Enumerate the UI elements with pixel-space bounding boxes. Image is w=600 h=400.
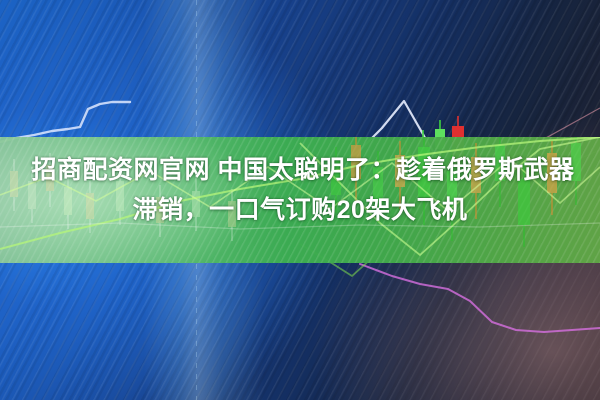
headline-text: 招商配资网官网 中国太聪明了：趁着俄罗斯武器 滞销，一口气订购20架大飞机 bbox=[0, 150, 600, 230]
series-left-step-line bbox=[0, 102, 130, 142]
banner-image: 招商配资网官网 中国太聪明了：趁着俄罗斯武器 滞销，一口气订购20架大飞机 bbox=[0, 0, 600, 400]
headline-line-1: 招商配资网官网 中国太聪明了：趁着俄罗斯武器 bbox=[0, 150, 600, 190]
series-magenta-decline-line bbox=[360, 264, 600, 332]
headline-line-2: 滞销，一口气订购20架大飞机 bbox=[0, 190, 600, 230]
